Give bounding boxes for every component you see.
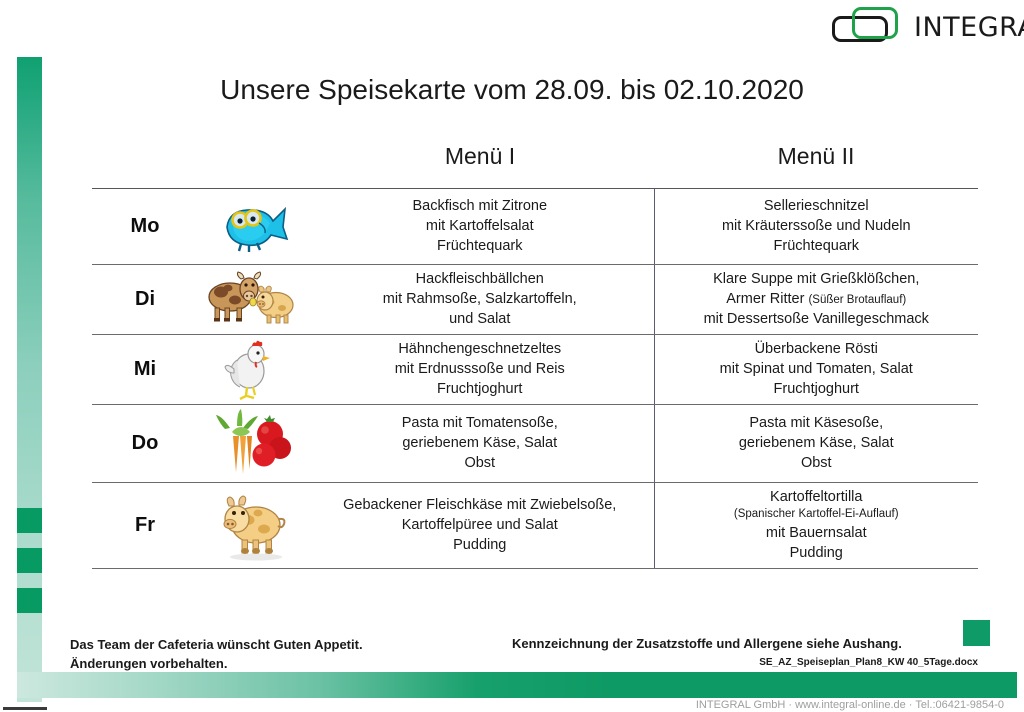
table-row: Mo Backfisch mit Zitrone mit Kartoffelsa… — [92, 188, 978, 264]
day-label-di: Di — [92, 264, 198, 334]
menu-line: geriebenem Käse, Salat — [306, 433, 654, 453]
menu1-cell-mo: Backfisch mit Zitrone mit Kartoffelsalat… — [306, 188, 654, 264]
menu-line: Gebackener Fleischkäse mit Zwiebelsoße, — [306, 495, 654, 515]
vegetables-icon-svg — [210, 408, 294, 478]
weekly-menu-table: Menü I Menü II Mo Backfisch mit Zitro — [92, 126, 978, 569]
menu1-cell-fr: Gebackener Fleischkäse mit Zwiebelsoße, … — [306, 482, 654, 568]
page-title: Unsere Speisekarte vom 28.09. bis 02.10.… — [0, 74, 1024, 106]
left-accent-block-1 — [17, 508, 42, 533]
menu-line: Pasta mit Käsesoße, — [655, 413, 979, 433]
menu2-cell-mo: Sellerieschnitzel mit Kräuterssoße und N… — [654, 188, 978, 264]
logo-wordmark: INTEGRAL — [914, 12, 1024, 43]
menu-line-note: (Spanischer Kartoffel-Ei-Auflauf) — [655, 507, 979, 523]
header-menu-2: Menü II — [654, 126, 978, 188]
integral-logo: INTEGRAL — [832, 5, 1017, 47]
header-menu-1: Menü I — [306, 126, 654, 188]
footer-gradient-bar — [17, 672, 1017, 698]
day-label-fr: Fr — [92, 482, 198, 568]
menu-line: Pasta mit Tomatensoße, — [306, 413, 654, 433]
fish-icon-svg — [213, 197, 291, 255]
footer-left-line-1: Das Team der Cafeteria wünscht Guten App… — [70, 636, 363, 655]
bottom-rule — [3, 707, 47, 710]
menu-line: mit Erdnusssoße und Reis — [306, 359, 654, 379]
day-label-mo: Mo — [92, 188, 198, 264]
menu1-cell-di: Hackfleischbällchen mit Rahmsoße, Salzka… — [306, 264, 654, 334]
menu-line: Obst — [306, 453, 654, 473]
day-label-do: Do — [92, 404, 198, 482]
menu-line-note: (Süßer Brotauflauf) — [808, 294, 906, 306]
pig-icon-svg — [211, 489, 293, 561]
chicken-icon — [198, 334, 306, 404]
cow-and-pig-icon — [198, 264, 306, 334]
menu-line: mit Kräuterssoße und Nudeln — [655, 216, 979, 236]
menu-line: und Salat — [306, 309, 654, 329]
menu-line: mit Bauernsalat — [655, 523, 979, 543]
menu-line: Sellerieschnitzel — [655, 196, 979, 216]
day-label-mi: Mi — [92, 334, 198, 404]
menu-line: Früchtequark — [306, 236, 654, 256]
menu-line: Fruchtjoghurt — [655, 379, 979, 399]
table-row: Do Pasta m — [92, 404, 978, 482]
menu-line: Hackfleischbällchen — [306, 269, 654, 289]
footer-left-line-2: Änderungen vorbehalten. — [70, 655, 363, 674]
menu-line: Kartoffeltortilla — [655, 487, 979, 507]
menu-line: Backfisch mit Zitrone — [306, 196, 654, 216]
menu-line: Armer Ritter (Süßer Brotauflauf) — [655, 289, 979, 309]
menu-line: Hähnchengeschnetzeltes — [306, 339, 654, 359]
menu-line: mit Kartoffelsalat — [306, 216, 654, 236]
menu-line: mit Rahmsoße, Salzkartoffeln, — [306, 289, 654, 309]
menu-line: Pudding — [306, 535, 654, 555]
menu-line: mit Spinat und Tomaten, Salat — [655, 359, 979, 379]
footer-left-text: Das Team der Cafeteria wünscht Guten App… — [70, 636, 363, 674]
pig-icon — [198, 482, 306, 568]
menu-line: Fruchtjoghurt — [306, 379, 654, 399]
table-row: Fr — [92, 482, 978, 568]
header-day-blank — [92, 126, 198, 188]
vegetables-icon — [198, 404, 306, 482]
menu2-cell-fr: Kartoffeltortilla (Spanischer Kartoffel-… — [654, 482, 978, 568]
menu2-cell-do: Pasta mit Käsesoße, geriebenem Käse, Sal… — [654, 404, 978, 482]
logo-rounded-rect-green-icon — [852, 7, 898, 39]
chicken-icon-svg — [221, 338, 283, 400]
logo-mark-icon — [832, 7, 904, 45]
menu1-cell-do: Pasta mit Tomatensoße, geriebenem Käse, … — [306, 404, 654, 482]
menu-line: mit Dessertsoße Vanillegeschmack — [655, 309, 979, 329]
cow-and-pig-icon-svg — [204, 271, 300, 327]
left-accent-block-2 — [17, 548, 42, 573]
footer-accent-square — [963, 620, 990, 646]
fish-icon — [198, 188, 306, 264]
table-row: Mi Hähnchengeschnetzeltes — [92, 334, 978, 404]
left-accent-block-3 — [17, 588, 42, 613]
table-row: Di — [92, 264, 978, 334]
menu-page: INTEGRAL Unsere Speisekarte vom 28.09. b… — [0, 0, 1024, 712]
menu-line: Pudding — [655, 543, 979, 563]
menu-line: geriebenem Käse, Salat — [655, 433, 979, 453]
menu-line: Obst — [655, 453, 979, 473]
menu-line: Klare Suppe mit Grießklößchen, — [655, 269, 979, 289]
menu-line: Kartoffelpüree und Salat — [306, 515, 654, 535]
menu-line: Überbackene Rösti — [655, 339, 979, 359]
footer-allergen-notice: Kennzeichnung der Zusatzstoffe und Aller… — [512, 636, 902, 651]
menu2-cell-mi: Überbackene Rösti mit Spinat und Tomaten… — [654, 334, 978, 404]
menu-line: Früchtequark — [655, 236, 979, 256]
footer-document-name: SE_AZ_Speiseplan_Plan8_KW 40_5Tage.docx — [618, 657, 978, 668]
menu2-cell-di: Klare Suppe mit Grießklößchen, Armer Rit… — [654, 264, 978, 334]
header-icon-blank — [198, 126, 306, 188]
table-header-row: Menü I Menü II — [92, 126, 978, 188]
footer-imprint: INTEGRAL GmbH · www.integral-online.de ·… — [0, 699, 1004, 711]
menu1-cell-mi: Hähnchengeschnetzeltes mit Erdnusssoße u… — [306, 334, 654, 404]
